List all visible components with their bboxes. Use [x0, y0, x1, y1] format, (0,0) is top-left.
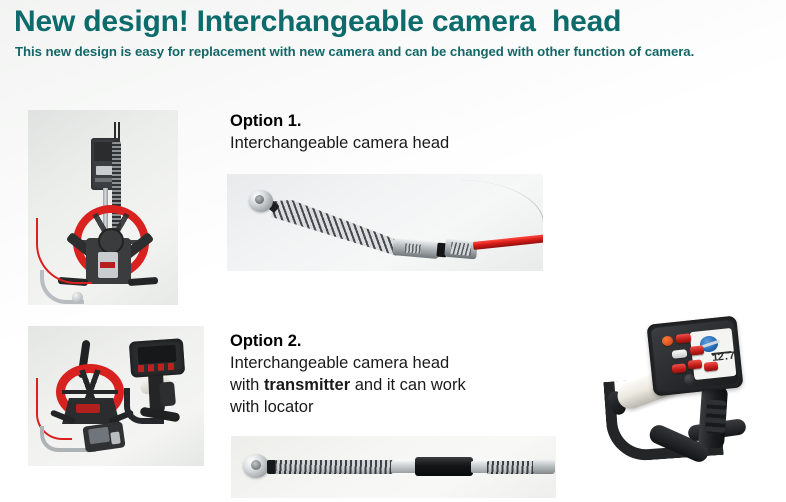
locator-button-4[interactable] [688, 359, 703, 369]
camera-lens [251, 460, 261, 470]
connector-threads-1 [405, 243, 422, 253]
handheld-monitor-buttons [110, 431, 121, 444]
locator-rotary-knob[interactable] [684, 374, 695, 385]
locator-grip [159, 381, 176, 406]
frame-red-strip [76, 404, 100, 413]
option-2-line-2-prefix: with [230, 376, 264, 394]
option-1-description: Interchangeable camera head [230, 132, 449, 154]
option-2-line-2: with transmitter and it can work [230, 374, 466, 396]
connector-threads-2 [451, 242, 472, 256]
option-1-heading: Option 1. [230, 110, 449, 132]
background-scratch [423, 180, 543, 242]
spring-joint-sleeve-1 [391, 461, 417, 473]
option-2-text-block: Option 2. Interchangeable camera head wi… [230, 330, 466, 418]
flexible-spring-section [271, 200, 401, 256]
reel-hub [98, 228, 124, 254]
locator-power-button[interactable] [662, 336, 673, 346]
photo-head-plain [227, 174, 543, 271]
locator-button-2[interactable] [672, 349, 688, 359]
flexible-spring-section-2 [487, 461, 537, 474]
camera-lens [255, 195, 264, 204]
page-title: New design! Interchangeable camera head [14, 4, 621, 40]
camera-head-ball [72, 292, 83, 303]
option-2-transmitter-emphasis: transmitter [264, 376, 350, 394]
page-subtitle: This new design is easy for replacement … [15, 44, 763, 61]
handheld-monitor-screen [88, 427, 110, 445]
locator-button-3[interactable] [690, 345, 705, 355]
locator-button-1[interactable] [676, 333, 692, 344]
flexible-spring-section-1 [275, 460, 393, 474]
photo-reel-locator [28, 326, 204, 466]
locator-grip [705, 399, 727, 434]
panel-red-strip [100, 262, 115, 268]
photo-locator: 12.7 [588, 312, 786, 502]
option-1-text-block: Option 1. Interchangeable camera head [230, 110, 449, 154]
photo-head-transmitter [231, 436, 556, 498]
option-2-line-2-suffix: and it can work [350, 376, 466, 394]
cable-end-connector [533, 459, 555, 474]
stand-foot-right [128, 277, 158, 286]
locator-button-5[interactable] [672, 363, 687, 373]
option-2-heading: Option 2. [230, 330, 466, 352]
option-2-line-3: with locator [230, 396, 466, 418]
option-2-line-1: Interchangeable camera head [230, 352, 466, 374]
transmitter-module [415, 457, 473, 476]
photo-reel-stand [28, 110, 178, 305]
locator-screen [137, 345, 176, 365]
locator-button-6[interactable] [704, 361, 719, 371]
